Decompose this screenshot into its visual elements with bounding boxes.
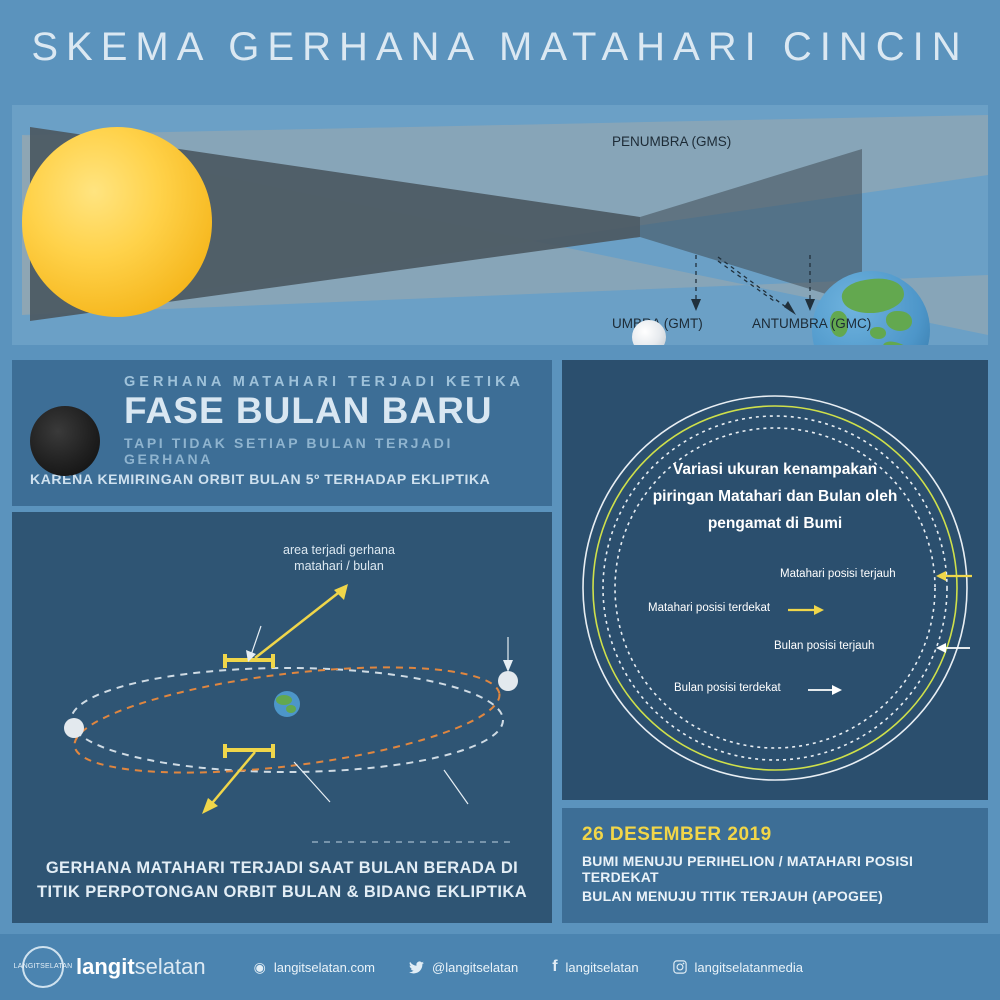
orbit-panel-caption: GERHANA MATAHARI TERJADI SAAT BULAN BERA… bbox=[12, 857, 552, 905]
moon-lowest-object bbox=[64, 718, 84, 738]
label-sun-near: Matahari posisi terdekat bbox=[648, 602, 770, 614]
apparent-size-variation-panel: Variasi ukuran kenampakan piringan Matah… bbox=[562, 360, 988, 800]
new-moon-subtext: TAPI TIDAK SETIAP BULAN TERJADI GERHANA bbox=[124, 435, 534, 467]
size-variation-svg bbox=[562, 360, 988, 800]
event-date: 26 DESEMBER 2019 bbox=[582, 824, 968, 846]
rss-icon: ◉ bbox=[254, 959, 266, 976]
social-link-twitter[interactable]: @langitselatan bbox=[409, 960, 518, 975]
facebook-icon: f bbox=[552, 958, 557, 976]
event-note-line-1: BUMI MENUJU PERIHELION / MATAHARI POSISI… bbox=[582, 853, 968, 885]
new-moon-phase-panel: GERHANA MATAHARI TERJADI KETIKA FASE BUL… bbox=[12, 360, 552, 506]
earth-center-land bbox=[276, 695, 292, 705]
new-moon-headline: FASE BULAN BARU bbox=[124, 392, 534, 430]
size-variation-arrows bbox=[788, 571, 972, 695]
lunar-node-diagram-panel: area terjadi gerhana matahari / bulan ti… bbox=[12, 512, 552, 923]
twitter-icon bbox=[409, 961, 424, 974]
label-penumbra: PENUMBRA (GMS) bbox=[612, 134, 731, 149]
orbit-caption-line-2: TITIK PERPOTONGAN ORBIT BULAN & BIDANG E… bbox=[12, 881, 552, 905]
social-label-facebook: langitselatan bbox=[566, 960, 639, 975]
label-eclipse-area-top-text: area terjadi gerhana matahari / bulan bbox=[283, 543, 395, 573]
moon-highest-object bbox=[498, 671, 518, 691]
social-label-twitter: @langitselatan bbox=[432, 960, 518, 975]
new-moon-icon bbox=[30, 406, 100, 476]
brand-block[interactable]: LANGITSELATAN langitselatan bbox=[22, 946, 206, 988]
new-moon-pretext: GERHANA MATAHARI TERJADI KETIKA bbox=[124, 374, 534, 390]
earth-center-land bbox=[286, 705, 296, 713]
social-link-website[interactable]: ◉ langitselatan.com bbox=[254, 959, 375, 976]
circle-sun-far bbox=[583, 396, 967, 780]
page-title: SKEMA GERHANA MATAHARI CINCIN bbox=[31, 25, 968, 70]
brand-wordmark-light: selatan bbox=[135, 954, 206, 979]
social-label-website: langitselatan.com bbox=[274, 960, 375, 975]
variation-title-line-3: pengamat di Bumi bbox=[562, 510, 988, 537]
label-antumbra: ANTUMBRA (GMC) bbox=[752, 316, 871, 331]
social-link-instagram[interactable]: langitselatanmedia bbox=[673, 960, 803, 975]
instagram-icon bbox=[673, 960, 687, 974]
new-moon-text-block: GERHANA MATAHARI TERJADI KETIKA FASE BUL… bbox=[124, 374, 534, 467]
social-links: ◉ langitselatan.com @langitselatan f lan… bbox=[254, 958, 803, 976]
variation-title-line-1: Variasi ukuran kenampakan bbox=[562, 456, 988, 483]
earth-landmass bbox=[870, 327, 886, 339]
event-date-panel: 26 DESEMBER 2019 BUMI MENUJU PERIHELION … bbox=[562, 808, 988, 923]
label-eclipse-area-top: area terjadi gerhana matahari / bulan bbox=[264, 542, 414, 575]
eclipse-geometry-diagram bbox=[12, 105, 988, 345]
social-label-instagram: langitselatanmedia bbox=[695, 960, 803, 975]
variation-panel-title: Variasi ukuran kenampakan piringan Matah… bbox=[562, 456, 988, 537]
ecliptic-plane-ellipse bbox=[71, 668, 503, 772]
brand-wordmark: langitselatan bbox=[76, 954, 206, 980]
brand-wordmark-bold: langit bbox=[76, 954, 135, 979]
earth-landmass bbox=[880, 339, 913, 345]
new-moon-subtext-2: KARENA KEMIRINGAN ORBIT BULAN 5º TERHADA… bbox=[30, 471, 534, 487]
moon-orbit-ellipse bbox=[69, 648, 505, 791]
langitselatan-crest-icon: LANGITSELATAN bbox=[22, 946, 64, 988]
sun-object bbox=[22, 127, 212, 317]
page-footer: LANGITSELATAN langitselatan ◉ langitsela… bbox=[0, 934, 1000, 1000]
label-sun-far: Matahari posisi terjauh bbox=[780, 568, 896, 580]
leader-arrowheads bbox=[691, 299, 815, 315]
orbit-caption-line-1: GERHANA MATAHARI TERJADI SAAT BULAN BERA… bbox=[12, 857, 552, 881]
label-moon-far: Bulan posisi terjauh bbox=[774, 640, 874, 652]
event-note-line-2: BULAN MENUJU TITIK TERJAUH (APOGEE) bbox=[582, 888, 968, 904]
variation-title-line-2: piringan Matahari dan Bulan oleh bbox=[562, 483, 988, 510]
earth-landmass bbox=[886, 311, 912, 331]
social-link-facebook[interactable]: f langitselatan bbox=[552, 958, 638, 976]
page-header: SKEMA GERHANA MATAHARI CINCIN bbox=[0, 0, 1000, 95]
label-moon-near: Bulan posisi terdekat bbox=[674, 682, 781, 694]
